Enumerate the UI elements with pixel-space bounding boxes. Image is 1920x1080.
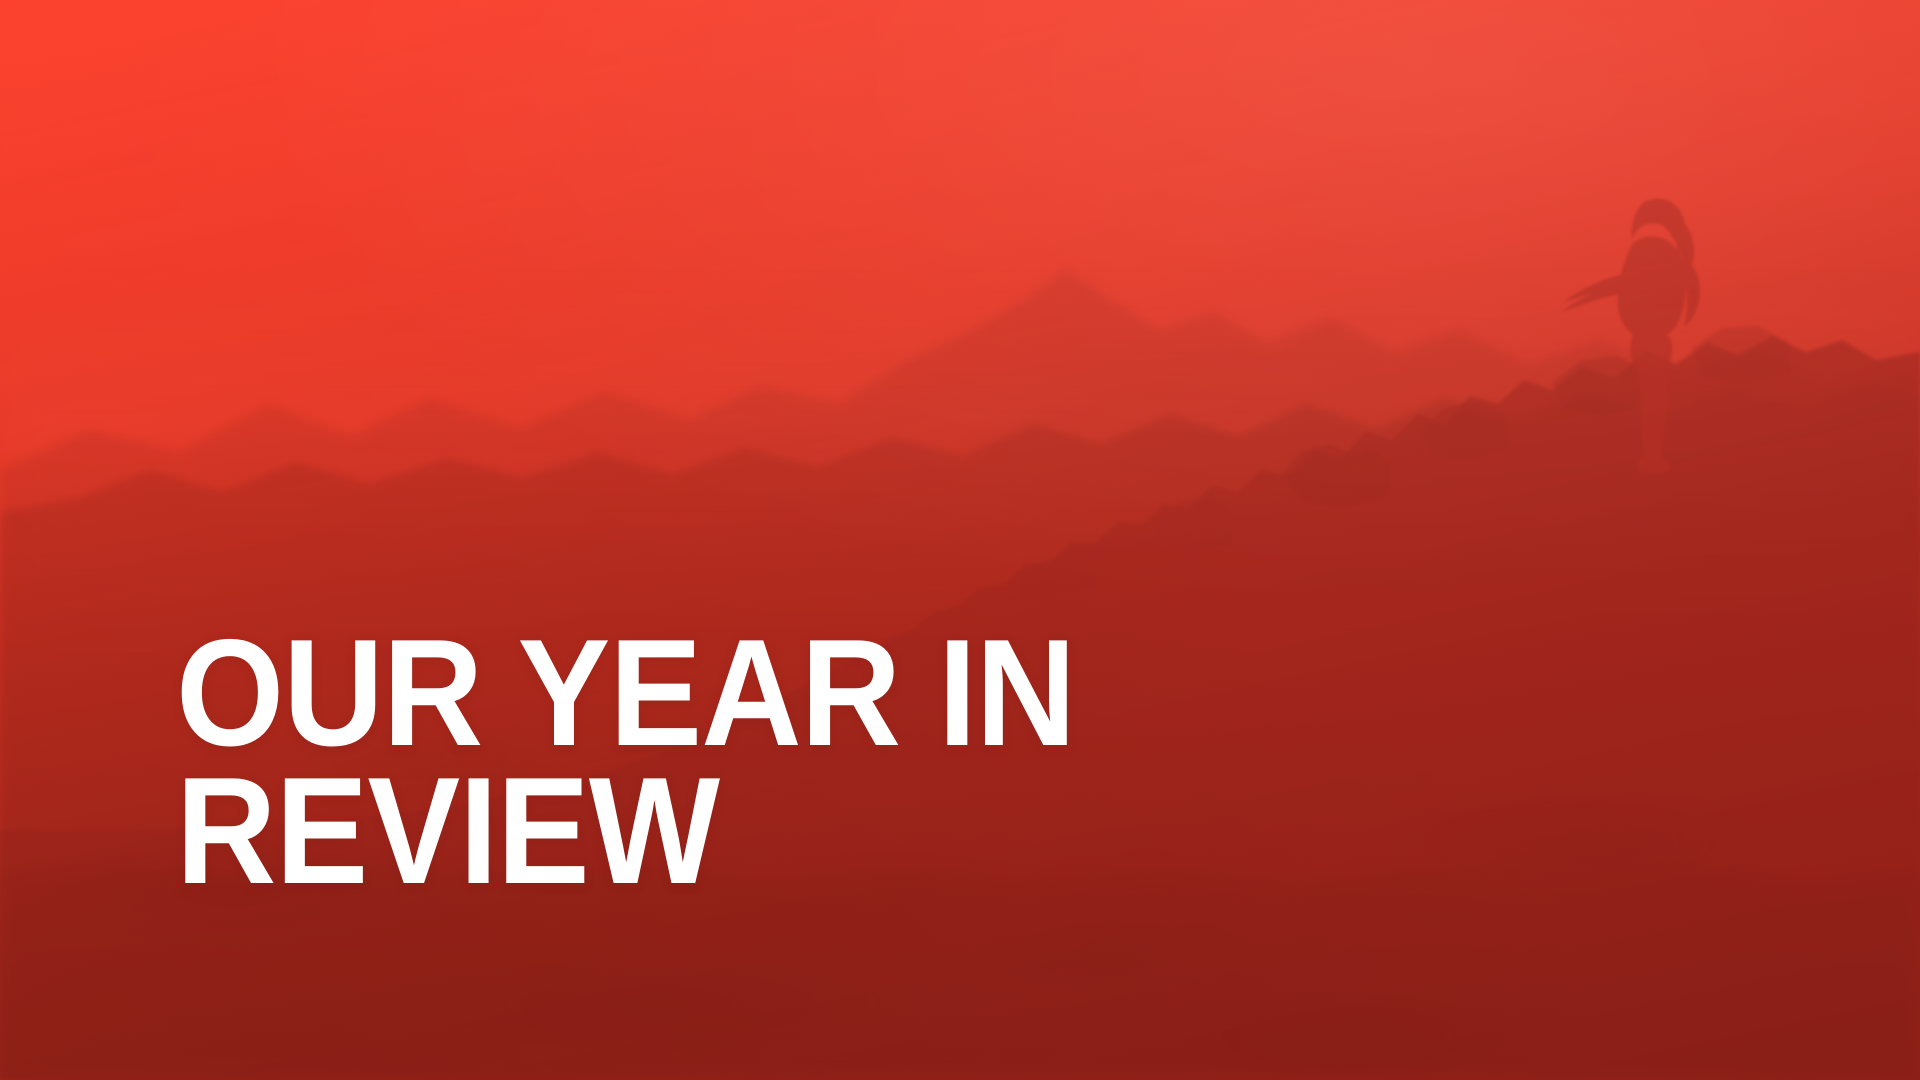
title-slide: OUR YEAR IN REVIEW (0, 0, 1920, 1080)
title-line-2: REVIEW (176, 774, 1091, 888)
vignette (0, 0, 1920, 1080)
page-title: OUR YEAR IN REVIEW (176, 636, 1176, 888)
background-photo (0, 0, 1920, 1080)
title-line-1: OUR YEAR IN (176, 636, 1091, 750)
